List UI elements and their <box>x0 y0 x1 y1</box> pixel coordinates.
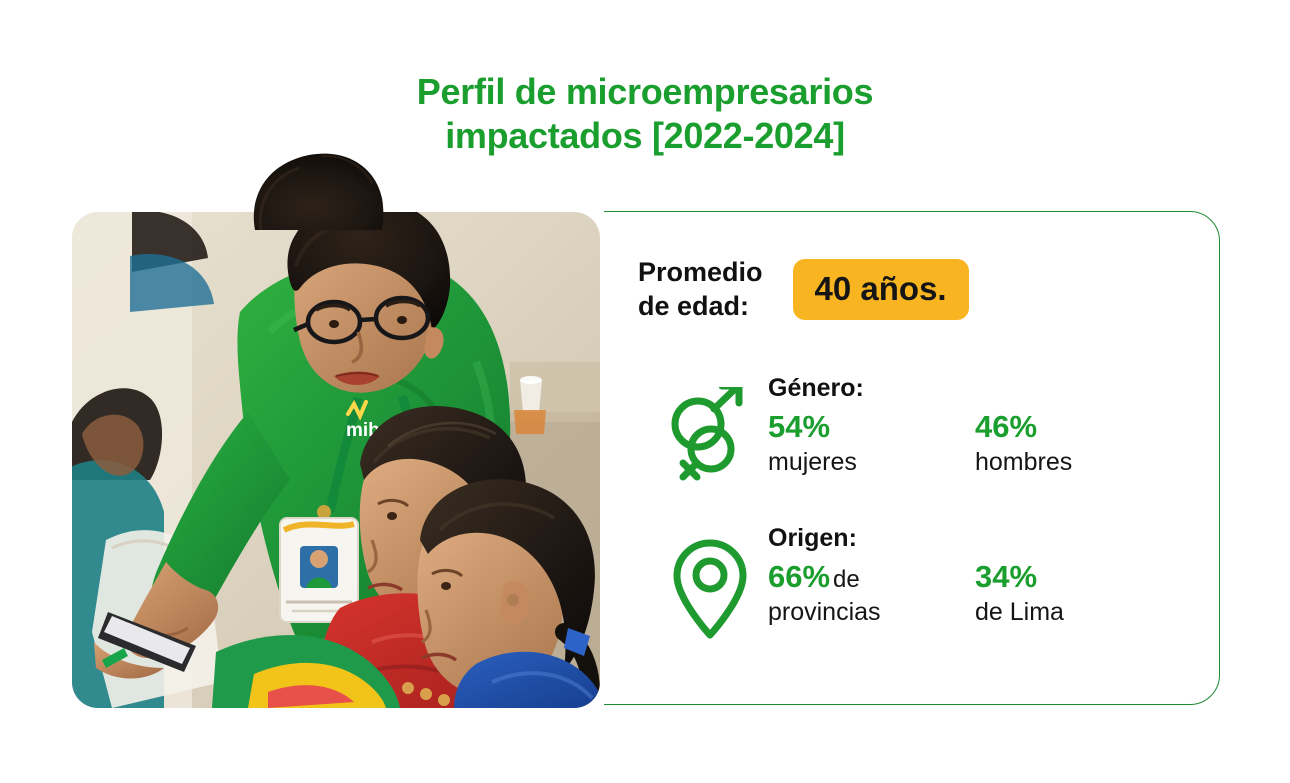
location-pin-icon <box>652 523 768 641</box>
origin-provinces-label: provincias <box>768 597 975 627</box>
gender-men-suffix <box>1037 416 1040 443</box>
origin-lima-suffix <box>1037 566 1040 593</box>
page-title: Perfil de microempresarios impactados [2… <box>0 70 1290 158</box>
origin-provinces-suffix: de <box>830 566 860 593</box>
average-age-row: Promedio de edad: 40 años. <box>638 256 969 324</box>
gender-column-men: 46% hombres <box>975 409 1072 477</box>
origin-columns: 66%de provincias 34% de Lima <box>768 559 1064 627</box>
gender-column-women: 54% mujeres <box>768 409 975 477</box>
gender-men-value: 46% <box>975 409 1037 444</box>
gender-men-label: hombres <box>975 447 1072 477</box>
gender-symbols-glyph <box>664 387 756 487</box>
origin-column-provinces: 66%de provincias <box>768 559 975 627</box>
gender-women-value-line: 54% <box>768 409 975 446</box>
location-pin-glyph <box>667 537 753 641</box>
average-age-label: Promedio de edad: <box>638 256 763 324</box>
origin-stat-body: Origen: 66%de provincias 34% de Lima <box>768 523 1064 627</box>
origin-heading: Origen: <box>768 523 1064 553</box>
origin-provinces-value: 66% <box>768 559 830 594</box>
origin-lima-value: 34% <box>975 559 1037 594</box>
gender-columns: 54% mujeres 46% hombres <box>768 409 1072 477</box>
stat-block-gender: Género: 54% mujeres 46% hombres <box>652 373 1072 487</box>
gender-men-value-line: 46% <box>975 409 1072 446</box>
gender-women-label: mujeres <box>768 447 975 477</box>
photo-microempresarios: mibanco <box>72 212 600 708</box>
title-line-1: Perfil de microempresarios <box>0 70 1290 114</box>
gender-stat-body: Género: 54% mujeres 46% hombres <box>768 373 1072 477</box>
origin-lima-label: de Lima <box>975 597 1064 627</box>
gender-women-suffix <box>830 416 833 443</box>
title-line-2: impactados [2022-2024] <box>0 114 1290 158</box>
origin-lima-value-line: 34% <box>975 559 1064 596</box>
stat-block-origin: Origen: 66%de provincias 34% de Lima <box>652 523 1064 641</box>
infographic-canvas: Perfil de microempresarios impactados [2… <box>0 0 1290 783</box>
gender-women-value: 54% <box>768 409 830 444</box>
average-age-badge: 40 años. <box>793 259 969 320</box>
stats-card-content: Promedio de edad: 40 años. Género: <box>600 211 1220 705</box>
origin-column-lima: 34% de Lima <box>975 559 1064 627</box>
gender-symbols-icon <box>652 373 768 487</box>
photo-illustration: mibanco <box>72 212 600 708</box>
gender-heading: Género: <box>768 373 1072 403</box>
origin-provinces-value-line: 66%de <box>768 559 975 596</box>
